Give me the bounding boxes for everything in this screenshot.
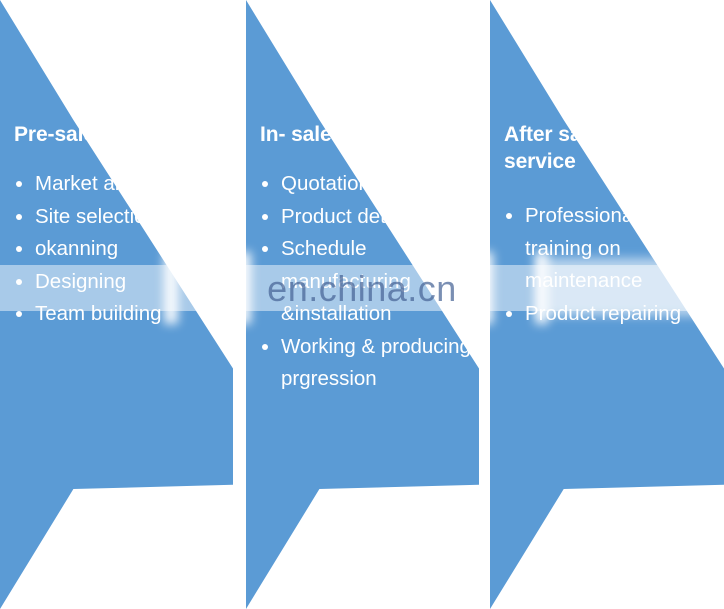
- list-item-label: Quotation: [281, 172, 370, 195]
- bullet-icon: [16, 246, 22, 252]
- list-item-label: Product repairing: [525, 302, 681, 325]
- stage-list-in-sale: Quotation Product details Schedule manuf…: [256, 168, 475, 396]
- list-item: Designing: [10, 266, 229, 299]
- list-item: Product details: [256, 201, 475, 234]
- list-item: Market analysis: [10, 168, 229, 201]
- bullet-icon: [506, 213, 512, 219]
- bullet-icon: [262, 181, 268, 187]
- list-item: okanning: [10, 233, 229, 266]
- list-item-label: Designing: [35, 270, 126, 293]
- bullet-icon: [16, 214, 22, 220]
- list-item: Product repairing: [500, 298, 688, 331]
- stage-list-pre-sale: Market analysis Site selection okanning …: [10, 168, 229, 331]
- bullet-icon: [16, 311, 22, 317]
- list-item-label: Team building: [35, 302, 162, 325]
- stage-list-after-sale: Professional training on maintenance Pro…: [500, 200, 688, 330]
- stage-content: After sale service Professional training…: [490, 0, 724, 609]
- list-item: Quotation: [256, 168, 475, 201]
- list-item-label: Schedule manufacturing &installation: [281, 237, 411, 325]
- stage-card-pre-sale[interactable]: Pre-sale service Market analysis Site se…: [0, 0, 233, 609]
- bullet-icon: [262, 344, 268, 350]
- bullet-icon: [16, 279, 22, 285]
- list-item-label: Working & producing prgression: [281, 335, 471, 391]
- stage-card-after-sale[interactable]: After sale service Professional training…: [490, 0, 724, 609]
- stage-title-pre-sale: Pre-sale service: [14, 122, 227, 149]
- list-item-label: Site selection: [35, 205, 157, 228]
- stage-title-after-sale: After sale service: [504, 122, 652, 176]
- stage-content: Pre-sale service Market analysis Site se…: [0, 0, 233, 609]
- bullet-icon: [262, 246, 268, 252]
- list-item: Team building: [10, 298, 229, 331]
- list-item-label: Market analysis: [35, 172, 177, 195]
- bullet-icon: [16, 181, 22, 187]
- bullet-icon: [506, 311, 512, 317]
- bullet-icon: [262, 214, 268, 220]
- list-item-label: Product details: [281, 205, 417, 228]
- list-item: Site selection: [10, 201, 229, 234]
- process-diagram: Pre-sale service Market analysis Site se…: [0, 0, 724, 609]
- list-item: Working & producing prgression: [256, 331, 475, 396]
- list-item: Schedule manufacturing &installation: [256, 233, 475, 331]
- stage-content: In- sale service Quotation Product detai…: [246, 0, 479, 609]
- list-item: Professional training on maintenance: [500, 200, 688, 298]
- list-item-label: Professional training on maintenance: [525, 204, 642, 292]
- stage-card-in-sale[interactable]: In- sale service Quotation Product detai…: [246, 0, 479, 609]
- stage-title-in-sale: In- sale service: [260, 122, 473, 149]
- list-item-label: okanning: [35, 237, 118, 260]
